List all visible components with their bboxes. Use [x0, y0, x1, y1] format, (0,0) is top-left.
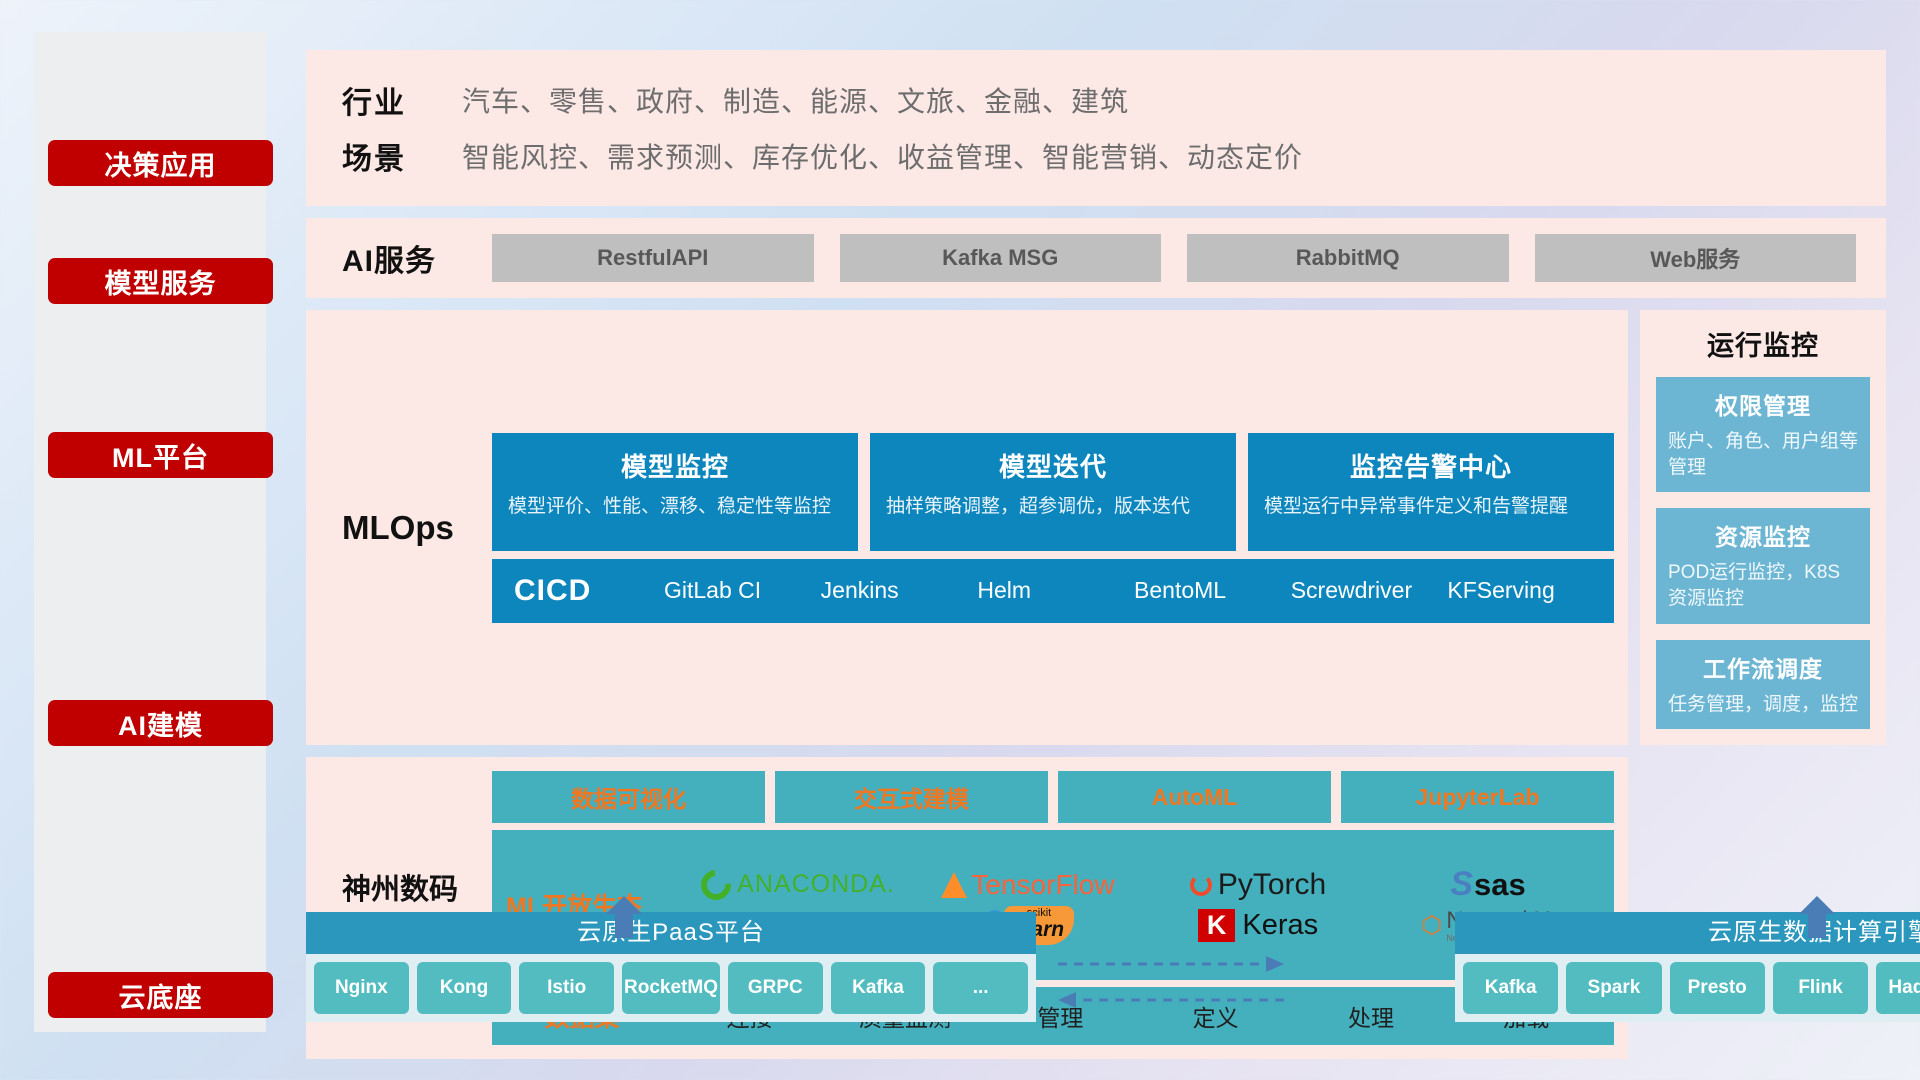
ai-service-chip-rabbitmq[interactable]: RabbitMQ: [1187, 234, 1509, 282]
ai-service-chip-web-service[interactable]: Web服务: [1535, 234, 1857, 282]
monitor-card-title: 工作流调度: [1668, 650, 1858, 684]
monitor-card-desc: POD运行监控，K8S资源监控: [1668, 560, 1858, 611]
scenario-row: 场景 智能风控、需求预测、库存优化、收益管理、智能营销、动态定价: [306, 128, 1886, 184]
industry-label: 行业: [342, 78, 462, 122]
mlops-content: 模型监控 模型评价、性能、漂移、稳定性等监控 模型迭代 抽样策略调整，超参调优，…: [492, 433, 1614, 623]
monitor-card-title: 权限管理: [1668, 387, 1858, 421]
data-engine-stack: 云原生数据计算引擎 Kafka Spark Presto Flink Hadoo…: [1455, 912, 1920, 1022]
mlops-card-list: 模型监控 模型评价、性能、漂移、稳定性等监控 模型迭代 抽样策略调整，超参调优，…: [492, 433, 1614, 551]
runtime-monitor-title: 运行监控: [1656, 324, 1870, 363]
paas-chip-istio[interactable]: Istio: [519, 962, 614, 1014]
layer-chip-ml-platform[interactable]: ML平台: [48, 432, 273, 478]
monitor-card-desc: 任务管理，调度，监控: [1668, 692, 1858, 718]
mlops-card-title: 监控告警中心: [1264, 447, 1598, 484]
cicd-title: CICD: [514, 574, 664, 608]
mlops-card-model-iteration[interactable]: 模型迭代 抽样策略调整，超参调优，版本迭代: [870, 433, 1236, 551]
ai-service-chip-kafka-msg[interactable]: Kafka MSG: [840, 234, 1162, 282]
paas-chip-more[interactable]: ...: [933, 962, 1028, 1014]
ml-lab-tool-jupyterlab[interactable]: JupyterLab: [1341, 771, 1614, 823]
layer-chip-cloud-base[interactable]: 云底座: [48, 972, 273, 1018]
paas-chip-nginx[interactable]: Nginx: [314, 962, 409, 1014]
monitor-card-workflow[interactable]: 工作流调度 任务管理，调度，监控: [1656, 640, 1870, 730]
layer-chip-decision-app[interactable]: 决策应用: [48, 140, 273, 186]
cicd-item-jenkins[interactable]: Jenkins: [821, 576, 978, 605]
cicd-item-list: GitLab CI Jenkins Helm BentoML Screwdriv…: [664, 576, 1604, 605]
monitor-card-desc: 账户、角色、用户组等管理: [1668, 429, 1858, 480]
mlops-label: MLOps: [342, 509, 492, 547]
cicd-item-bentoml[interactable]: BentoML: [1134, 576, 1291, 605]
layer-rail: 决策应用 模型服务 ML平台 AI建模 云底座: [34, 32, 266, 1032]
ml-lab-tool-automl[interactable]: AutoML: [1058, 771, 1331, 823]
decision-application-band: 行业 汽车、零售、政府、制造、能源、文旅、金融、建筑 场景 智能风控、需求预测、…: [306, 50, 1886, 206]
cicd-bar: CICD GitLab CI Jenkins Helm BentoML Scre…: [492, 559, 1614, 623]
scenario-label: 场景: [342, 134, 462, 178]
data-engine-title: 云原生数据计算引擎: [1455, 912, 1920, 954]
paas-title: 云原生PaaS平台: [306, 912, 1036, 954]
mlops-card-desc: 模型运行中异常事件定义和告警提醒: [1264, 494, 1598, 520]
engine-chip-flink[interactable]: Flink: [1773, 962, 1868, 1014]
engine-chip-hadoop[interactable]: Hadoop: [1876, 962, 1920, 1014]
ml-lab-tool-data-visualization[interactable]: 数据可视化: [492, 771, 765, 823]
industry-row: 行业 汽车、零售、政府、制造、能源、文旅、金融、建筑: [306, 72, 1886, 128]
ai-service-label: AI服务: [342, 236, 492, 280]
mlops-band: MLOps 模型监控 模型评价、性能、漂移、稳定性等监控 模型迭代 抽样策略调整…: [306, 310, 1628, 745]
ai-service-band: AI服务 RestfulAPI Kafka MSG RabbitMQ Web服务: [306, 218, 1886, 298]
layer-chip-model-service[interactable]: 模型服务: [48, 258, 273, 304]
engine-chip-presto[interactable]: Presto: [1670, 962, 1765, 1014]
ml-platform-row: MLOps 模型监控 模型评价、性能、漂移、稳定性等监控 模型迭代 抽样策略调整…: [306, 310, 1886, 745]
scenario-value: 智能风控、需求预测、库存优化、收益管理、智能营销、动态定价: [462, 136, 1303, 176]
mlops-card-alert-center[interactable]: 监控告警中心 模型运行中异常事件定义和告警提醒: [1248, 433, 1614, 551]
ai-service-items: RestfulAPI Kafka MSG RabbitMQ Web服务: [492, 234, 1856, 282]
cicd-item-helm[interactable]: Helm: [977, 576, 1134, 605]
industry-value: 汽车、零售、政府、制造、能源、文旅、金融、建筑: [462, 80, 1129, 120]
mlops-card-model-monitoring[interactable]: 模型监控 模型评价、性能、漂移、稳定性等监控: [492, 433, 858, 551]
monitor-card-resource[interactable]: 资源监控 POD运行监控，K8S资源监控: [1656, 508, 1870, 623]
mlops-card-title: 模型监控: [508, 447, 842, 484]
cloud-base-row: 云原生PaaS平台 Nginx Kong Istio RocketMQ GRPC…: [306, 886, 1886, 1046]
paas-chip-rocketmq[interactable]: RocketMQ: [622, 962, 720, 1014]
data-engine-chip-list: Kafka Spark Presto Flink Hadoop Storm ..…: [1455, 954, 1920, 1022]
mlops-card-desc: 抽样策略调整，超参调优，版本迭代: [886, 494, 1220, 520]
ai-service-chip-restfulapi[interactable]: RestfulAPI: [492, 234, 814, 282]
engine-up-arrow-icon: [1795, 896, 1839, 938]
cicd-item-gitlab-ci[interactable]: GitLab CI: [664, 576, 821, 605]
mlops-card-desc: 模型评价、性能、漂移、稳定性等监控: [508, 494, 842, 520]
mlops-card-title: 模型迭代: [886, 447, 1220, 484]
layer-chip-ai-modeling[interactable]: AI建模: [48, 700, 273, 746]
engine-chip-spark[interactable]: Spark: [1566, 962, 1661, 1014]
ml-lab-tool-list: 数据可视化 交互式建模 AutoML JupyterLab: [492, 771, 1614, 823]
bidirectional-link-arrows: [1048, 948, 1448, 1018]
engine-chip-kafka[interactable]: Kafka: [1463, 962, 1558, 1014]
paas-chip-kong[interactable]: Kong: [417, 962, 512, 1014]
paas-chip-kafka[interactable]: Kafka: [831, 962, 926, 1014]
paas-chip-list: Nginx Kong Istio RocketMQ GRPC Kafka ...: [306, 954, 1036, 1022]
runtime-monitor-panel: 运行监控 权限管理 账户、角色、用户组等管理 资源监控 POD运行监控，K8S资…: [1640, 310, 1886, 745]
paas-up-arrow-icon: [602, 896, 646, 938]
ml-lab-tool-interactive-modeling[interactable]: 交互式建模: [775, 771, 1048, 823]
paas-chip-grpc[interactable]: GRPC: [728, 962, 823, 1014]
cicd-item-screwdriver[interactable]: Screwdriver: [1291, 576, 1448, 605]
monitor-card-permission[interactable]: 权限管理 账户、角色、用户组等管理: [1656, 377, 1870, 492]
paas-stack: 云原生PaaS平台 Nginx Kong Istio RocketMQ GRPC…: [306, 912, 1036, 1022]
monitor-card-title: 资源监控: [1668, 518, 1858, 552]
cicd-item-kfserving[interactable]: KFServing: [1447, 576, 1604, 605]
